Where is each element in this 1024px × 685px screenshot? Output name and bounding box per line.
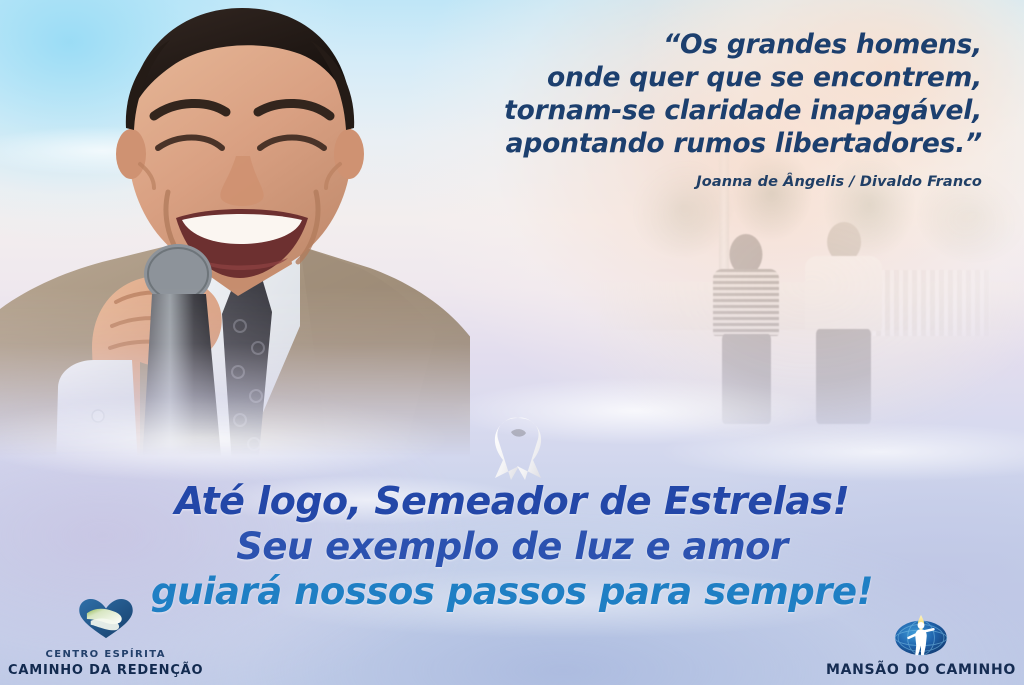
centro-espirita-logo: CENTRO ESPÍRITA CAMINHO DA REDENÇÃO xyxy=(8,598,203,679)
figure-head xyxy=(918,622,925,629)
portrait-illustration xyxy=(0,0,470,466)
memorial-poster: “Os grandes homens, onde quer que se enc… xyxy=(0,0,1024,685)
quote-line-3: tornam-se claridade inapagável, xyxy=(422,94,982,127)
ribbon-loop-shadow xyxy=(511,429,526,437)
quote-line-4: apontando rumos libertadores.” xyxy=(422,127,982,160)
mansao-do-caminho-label: MANSÃO DO CAMINHO xyxy=(826,662,1016,679)
headline-line-2: Seu exemplo de luz e amor xyxy=(0,528,1024,565)
logo-line-1: MANSÃO DO CAMINHO xyxy=(826,662,1016,678)
cuff-button xyxy=(92,410,104,422)
logo-line-1: CENTRO ESPÍRITA xyxy=(46,649,166,660)
headline-line-1: Até logo, Semeador de Estrelas! xyxy=(0,482,1024,520)
quote-attribution: Joanna de Ângelis / Divaldo Franco xyxy=(422,174,982,190)
quote-block: “Os grandes homens, onde quer que se enc… xyxy=(422,28,982,190)
person-striped-shirt xyxy=(710,234,782,420)
ear-left xyxy=(116,129,146,179)
ribbon-left-tail xyxy=(495,418,519,480)
person-white-shirt xyxy=(804,222,885,420)
logo-line-2: CAMINHO DA REDENÇÃO xyxy=(8,663,203,678)
ear-right xyxy=(334,129,364,179)
globe-figure-flame-icon xyxy=(893,613,949,662)
portrait-fade-mask xyxy=(0,0,470,466)
ribbon-right-tail xyxy=(517,418,541,480)
man-with-microphone-photo xyxy=(0,0,470,466)
person-torso xyxy=(713,269,779,336)
white-awareness-ribbon xyxy=(481,408,555,488)
person-torso xyxy=(805,256,882,331)
person-legs xyxy=(722,334,771,423)
heart-hands-icon xyxy=(77,598,135,645)
quote-line-1: “Os grandes homens, xyxy=(422,28,982,61)
quote-line-2: onde quer que se encontrem, xyxy=(422,61,982,94)
two-people-walking-photo xyxy=(600,150,1024,450)
headline-block: Até logo, Semeador de Estrelas! Seu exem… xyxy=(0,482,1024,610)
person-legs xyxy=(816,329,871,424)
centro-espirita-label: CENTRO ESPÍRITA CAMINHO DA REDENÇÃO xyxy=(8,645,203,679)
mansao-do-caminho-logo: MANSÃO DO CAMINHO xyxy=(826,613,1016,679)
